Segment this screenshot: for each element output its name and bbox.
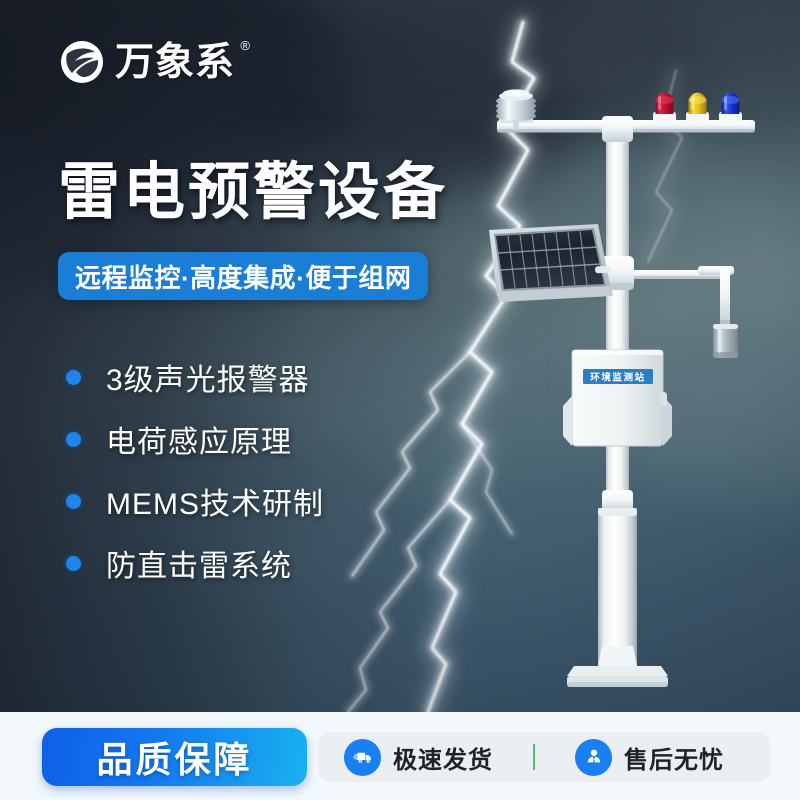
trust-badge-service[interactable]: 售后无忧 bbox=[575, 739, 724, 776]
logo-wordmark: 万象系 bbox=[115, 41, 235, 84]
base-plate bbox=[567, 646, 668, 687]
feature-label: 电荷感应原理 bbox=[106, 417, 292, 461]
delivery-truck-icon bbox=[344, 739, 381, 776]
mast-top-collar bbox=[602, 116, 633, 142]
bullet-dot-icon bbox=[66, 432, 81, 447]
registered-mark: ® bbox=[240, 39, 251, 52]
cylindrical-sensor bbox=[713, 324, 738, 358]
product-illustration: 环境监测站 bbox=[455, 80, 800, 705]
cylindrical-sensor-arm bbox=[698, 266, 734, 326]
alarm-light-red bbox=[653, 93, 676, 122]
control-enclosure: 环境监测站 bbox=[563, 350, 672, 446]
bullet-dot-icon bbox=[66, 556, 81, 571]
feature-label: MEMS技术研制 bbox=[106, 479, 324, 523]
trust-divider bbox=[533, 744, 535, 770]
promo-banner: 环境监测站 万象系 ® 雷电预警设备 远程监控·高 bbox=[0, 0, 800, 800]
feature-badge: 远程监控·高度集成·便于组网 bbox=[58, 252, 428, 300]
brand-logo: 万象系 ® bbox=[58, 38, 235, 86]
logo-mark-icon bbox=[58, 38, 106, 86]
trust-badge-label: 售后无忧 bbox=[624, 740, 724, 775]
quality-guarantee-label: 品质保障 bbox=[96, 731, 252, 783]
feature-label: 3级声光报警器 bbox=[106, 355, 310, 399]
bullet-dot-icon bbox=[66, 494, 81, 509]
alarm-light-yellow bbox=[686, 93, 709, 122]
alarm-light-blue bbox=[719, 93, 742, 122]
enclosure-label-text: 环境监测站 bbox=[590, 372, 646, 384]
pole-collar bbox=[598, 508, 637, 516]
feature-list: 3级声光报警器 电荷感应原理 MEMS技术研制 防直击雷系统 bbox=[66, 346, 324, 594]
list-item: MEMS技术研制 bbox=[66, 470, 324, 532]
trust-bar: 品质保障 极速发货 bbox=[0, 712, 800, 800]
list-item: 防直击雷系统 bbox=[66, 532, 324, 594]
bullet-dot-icon bbox=[66, 370, 81, 385]
feature-label: 防直击雷系统 bbox=[106, 541, 292, 585]
list-item: 3级声光报警器 bbox=[66, 346, 324, 408]
list-item: 电荷感应原理 bbox=[66, 408, 324, 470]
trust-badges-card: 极速发货 售后无忧 bbox=[318, 732, 770, 782]
customer-service-icon bbox=[575, 739, 612, 776]
trust-badge-shipping[interactable]: 极速发货 bbox=[344, 739, 493, 776]
solar-panel bbox=[489, 224, 613, 302]
logo-text: 万象系 ® bbox=[115, 43, 235, 82]
quality-guarantee-button[interactable]: 品质保障 bbox=[42, 728, 307, 786]
page-title: 雷电预警设备 bbox=[58, 160, 448, 227]
trust-badge-label: 极速发货 bbox=[393, 740, 493, 775]
